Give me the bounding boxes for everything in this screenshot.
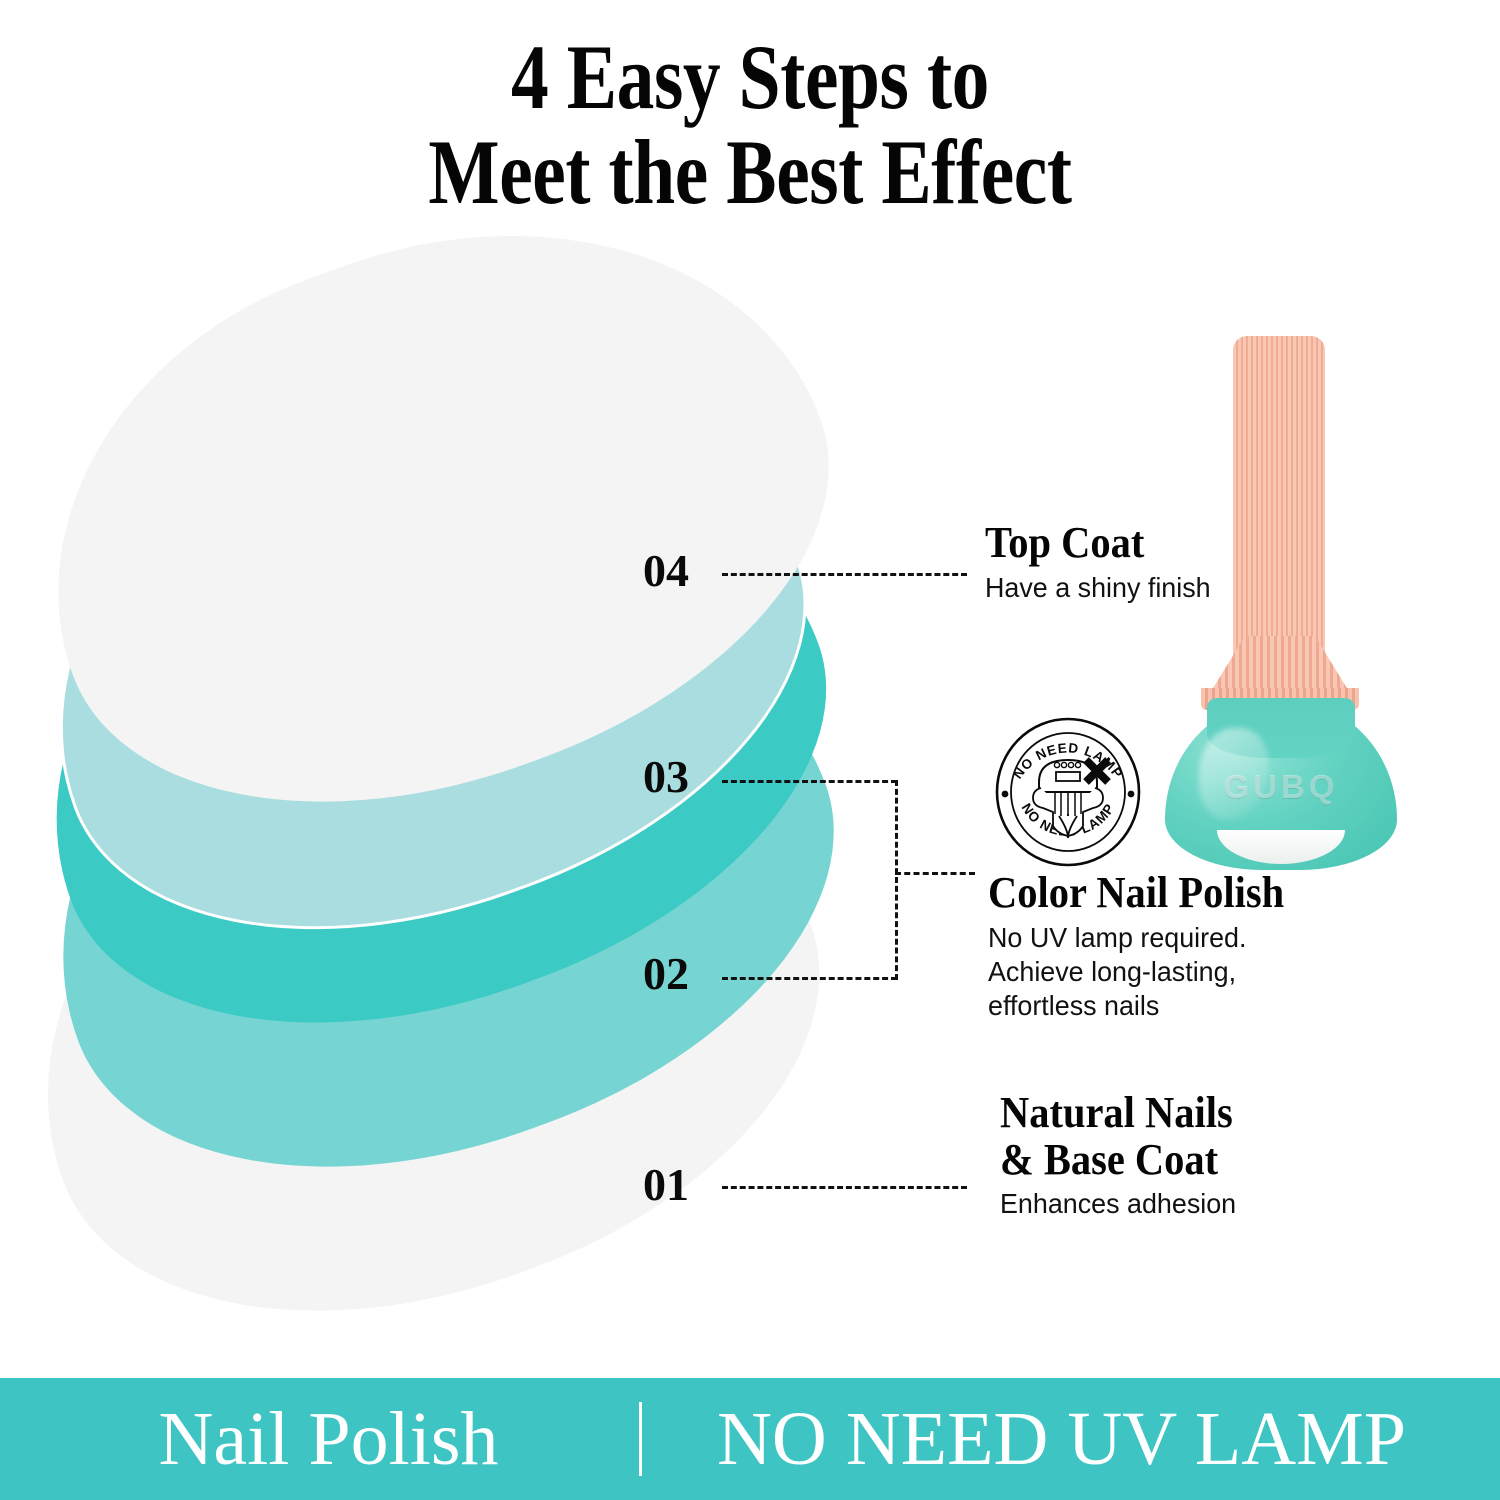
callout-natural-heading-line-1: Natural Nails — [1000, 1090, 1233, 1137]
banner-left-text-wrap: Nail Polish — [19, 1401, 639, 1477]
banner-right-text-wrap: NO NEED UV LAMP — [642, 1401, 1482, 1477]
step-number-02: 02 — [643, 947, 689, 1000]
callout-natural-heading-line-2: & Base Coat — [1000, 1137, 1233, 1184]
connector-line-04 — [722, 573, 967, 576]
callout-color-nail-polish: Color Nail Polish No UV lamp required. A… — [988, 870, 1310, 1023]
connector-line-02 — [722, 977, 897, 980]
banner-left-text: Nail Polish — [159, 1397, 499, 1481]
step-number-01: 01 — [643, 1158, 689, 1211]
infographic-page: 4 Easy Steps to Meet the Best Effect 04 … — [0, 0, 1500, 1500]
nail-polish-bottle: GUBQ — [1155, 336, 1445, 876]
connector-bracket-vertical — [895, 780, 898, 980]
callout-color-heading: Color Nail Polish — [988, 870, 1284, 917]
step-number-03: 03 — [643, 750, 689, 803]
step-number-04: 04 — [643, 544, 689, 597]
bottle-brand-logo: GUBQ — [1155, 768, 1407, 806]
callout-natural-nails: Natural Nails & Base Coat Enhances adhes… — [1000, 1090, 1253, 1221]
callout-color-line-1: No UV lamp required. — [988, 921, 1297, 955]
connector-line-03 — [722, 780, 897, 783]
bottom-banner: Nail Polish NO NEED UV LAMP — [0, 1378, 1500, 1500]
bottle-cap — [1233, 336, 1325, 676]
connector-bracket-stem — [895, 872, 975, 875]
callout-natural-description: Enhances adhesion — [1000, 1187, 1243, 1221]
no-need-lamp-icon: NO NEED LAMP NO NEED LAMP — [993, 716, 1143, 868]
title-line-1: 4 Easy Steps to — [135, 30, 1365, 125]
nail-layer-stack — [0, 230, 900, 1310]
callout-color-line-3: effortless nails — [988, 989, 1297, 1023]
connector-line-01 — [722, 1186, 967, 1189]
banner-right-text: NO NEED UV LAMP — [717, 1397, 1406, 1481]
title-line-2: Meet the Best Effect — [135, 125, 1365, 220]
page-title: 4 Easy Steps to Meet the Best Effect — [0, 30, 1500, 220]
callout-color-line-2: Achieve long-lasting, — [988, 955, 1297, 989]
callout-color-description: No UV lamp required. Achieve long-lastin… — [988, 921, 1297, 1023]
